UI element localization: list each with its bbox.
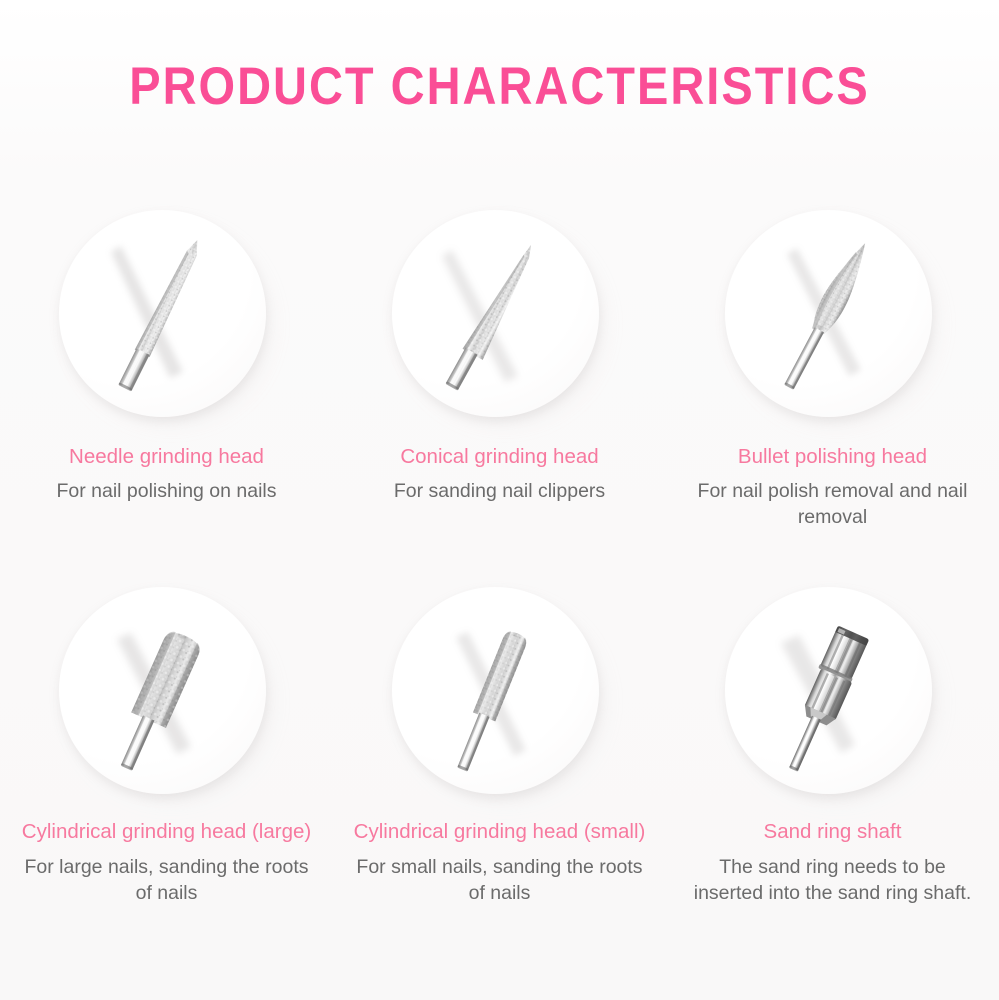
product-grid: Needle grinding head For nail polishing … [0,170,999,1000]
product-name: Cylindrical grinding head (small) [350,814,650,850]
product-image-wrapper [725,210,940,425]
product-card-sand-ring-shaft[interactable]: Sand ring shaft The sand ring needs to b… [666,585,999,975]
plate-circle [59,587,266,794]
product-row-2: Cylindrical grinding head (large) For la… [0,585,999,975]
product-image-wrapper [59,210,274,425]
needle-grinding-head-bit-icon [59,210,266,417]
plate-circle [392,210,599,417]
product-caption: Cylindrical grinding head (large) For la… [17,814,317,906]
product-characteristics-page: PRODUCT CHARACTERISTICS [0,0,999,1000]
product-description: For sanding nail clippers [350,478,650,504]
conical-grinding-head-bit-icon [392,210,599,417]
cylindrical-grinding-head-large-bit-icon [59,587,266,794]
product-caption: Needle grinding head For nail polishing … [17,439,317,504]
product-description: For nail polish removal and nail removal [683,478,983,530]
page-title: PRODUCT CHARACTERISTICS [129,54,870,116]
plate-circle [392,587,599,794]
product-description: For large nails, sanding the roots of na… [17,854,317,906]
page-header: PRODUCT CHARACTERISTICS [0,0,999,170]
product-image-wrapper [725,587,940,802]
product-image-wrapper [59,587,274,802]
plate-circle [725,210,932,417]
product-name: Bullet polishing head [683,439,983,474]
product-name: Sand ring shaft [683,814,983,850]
product-image-wrapper [392,210,607,425]
product-description: For small nails, sanding the roots of na… [350,854,650,906]
cylindrical-grinding-head-small-bit-icon [392,587,599,794]
product-description: The sand ring needs to be inserted into … [683,854,983,906]
product-card-conical-grinding-head[interactable]: Conical grinding head For sanding nail c… [333,208,666,598]
bullet-polishing-head-bit-icon [725,210,932,417]
product-caption: Sand ring shaft The sand ring needs to b… [683,814,983,906]
product-row-1: Needle grinding head For nail polishing … [0,208,999,598]
product-caption: Cylindrical grinding head (small) For sm… [350,814,650,906]
product-name: Cylindrical grinding head (large) [17,814,317,850]
product-caption: Conical grinding head For sanding nail c… [350,439,650,504]
product-image-wrapper [392,587,607,802]
plate-circle [59,210,266,417]
product-name: Conical grinding head [350,439,650,474]
sand-ring-shaft-mandrel-icon [725,587,932,794]
product-name: Needle grinding head [17,439,317,474]
product-card-needle-grinding-head[interactable]: Needle grinding head For nail polishing … [0,208,333,598]
product-card-cylindrical-grinding-head-small[interactable]: Cylindrical grinding head (small) For sm… [333,585,666,975]
product-card-cylindrical-grinding-head-large[interactable]: Cylindrical grinding head (large) For la… [0,585,333,975]
product-description: For nail polishing on nails [17,478,317,504]
product-card-bullet-polishing-head[interactable]: Bullet polishing head For nail polish re… [666,208,999,598]
plate-circle [725,587,932,794]
product-caption: Bullet polishing head For nail polish re… [683,439,983,530]
